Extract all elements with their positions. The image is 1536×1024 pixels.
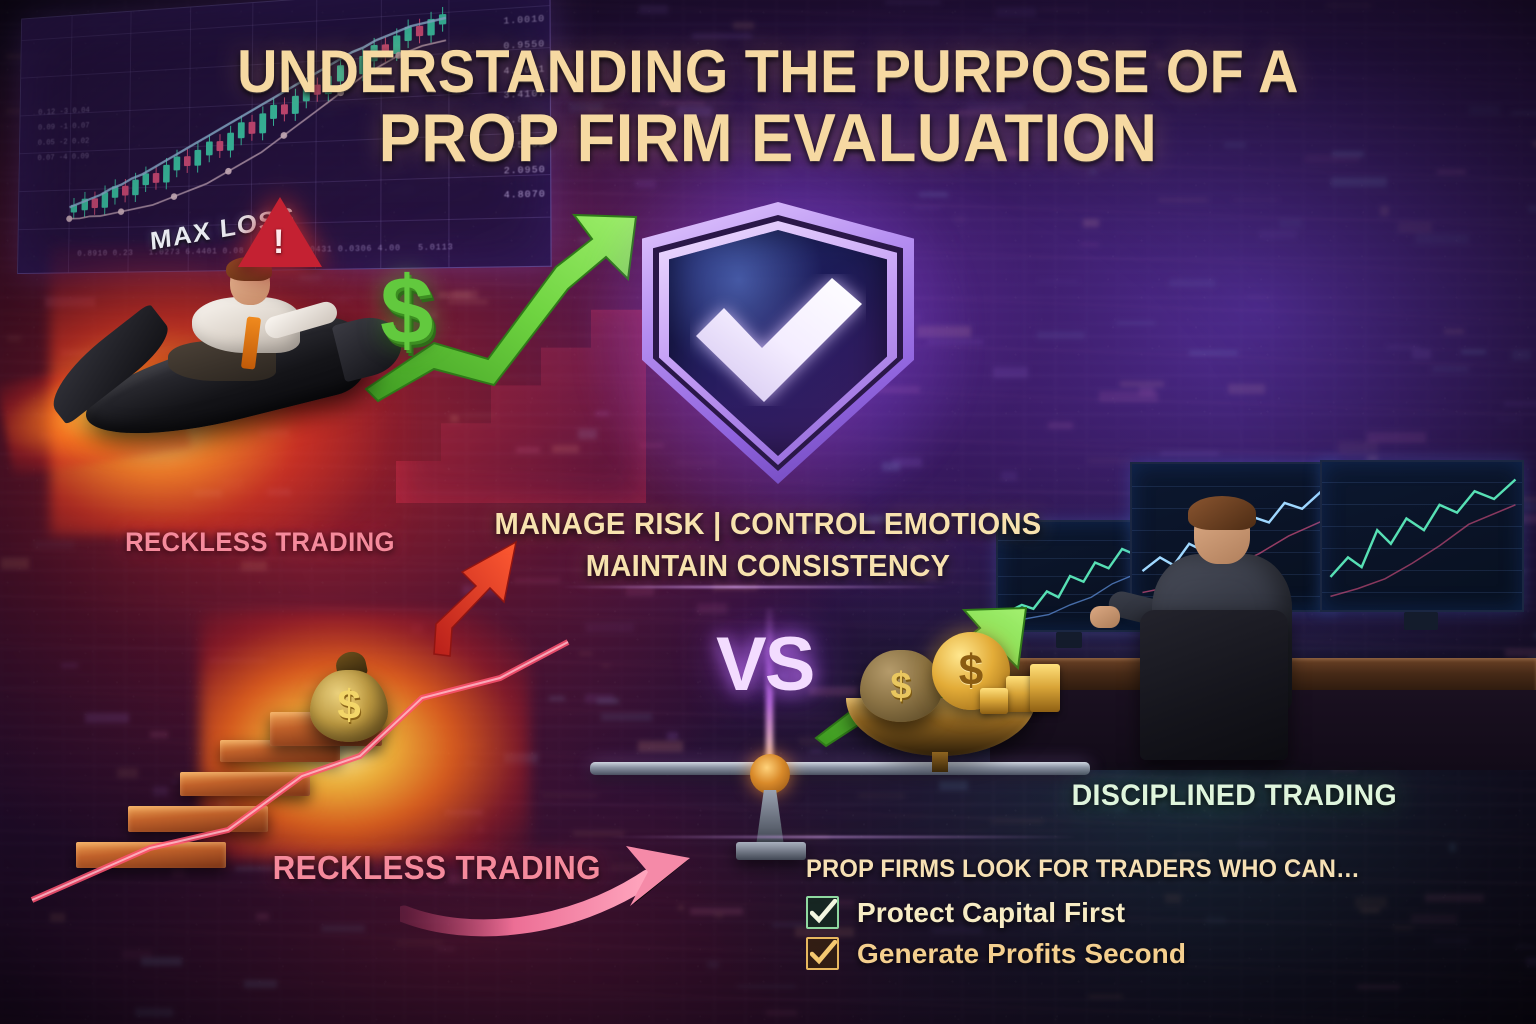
background-block: [1038, 280, 1078, 282]
background-block: [1228, 384, 1265, 394]
monitor-right-stand: [1404, 612, 1438, 630]
background-block: [1158, 198, 1208, 201]
background-block: [993, 367, 1029, 378]
background-block: [1326, 3, 1372, 8]
background-block: [1425, 894, 1485, 902]
background-block: [1, 558, 29, 569]
background-block: [1387, 345, 1419, 349]
coin-stack: [980, 688, 1008, 714]
infographic-canvas: MAX LOSS ! $ $: [0, 0, 1536, 1024]
checklist-item-label: Generate Profits Second: [857, 938, 1186, 970]
scale-base: [736, 842, 806, 860]
background-block: [1398, 222, 1431, 233]
reckless-trader-figure: [178, 261, 328, 381]
background-block: [141, 957, 182, 966]
background-block: [1088, 995, 1122, 999]
background-block: [1239, 841, 1266, 847]
warning-exclamation-glyph: !: [273, 225, 284, 259]
scale-pivot: [750, 754, 790, 794]
background-block: [1449, 843, 1456, 852]
title-line-2: PROP FIRM EVALUATION: [54, 105, 1482, 172]
background-block: [772, 924, 805, 926]
check-mark-icon: [690, 274, 866, 406]
background-block: [1526, 957, 1536, 967]
background-block: [244, 980, 277, 989]
background-block: [982, 29, 1026, 32]
versus-label: VS: [716, 621, 813, 708]
background-block: [1516, 945, 1535, 949]
background-block: [1259, 230, 1297, 239]
background-block: [733, 22, 754, 29]
page-title: UNDERSTANDING THE PURPOSE OF A PROP FIRM…: [0, 42, 1536, 173]
background-block: [1279, 219, 1302, 228]
checklist-item[interactable]: Protect Capital First: [806, 896, 1389, 929]
background-block: [1331, 177, 1387, 187]
checkbox-checked-gold[interactable]: [806, 937, 839, 970]
background-block: [766, 1010, 797, 1016]
background-block: [697, 603, 728, 613]
background-block: [1083, 219, 1099, 227]
shield-check-illustration: [628, 196, 928, 496]
background-block: [7, 335, 21, 342]
background-block: [1099, 391, 1158, 402]
background-block: [1233, 199, 1279, 201]
checklist-heading: PROP FIRMS LOOK FOR TRADERS WHO CAN…: [806, 855, 1360, 884]
background-block: [1432, 366, 1469, 373]
label-reckless-trading-bottom: RECKLESS TRADING: [273, 849, 601, 887]
background-block: [707, 961, 720, 968]
balance-scale-illustration: $ $: [560, 614, 1120, 874]
background-block: [1444, 329, 1465, 334]
background-block: [1433, 938, 1469, 943]
background-block: [737, 985, 796, 989]
checkbox-checked-green[interactable]: [806, 896, 839, 929]
center-message-line-1: MANAGE RISK | CONTROL EMOTIONS: [494, 506, 1041, 541]
check-mark-icon: [810, 940, 837, 968]
money-bag-dollar-glyph: $: [890, 666, 911, 709]
background-block: [1116, 321, 1155, 326]
background-block: [1393, 925, 1413, 931]
scale-pan-stem: [932, 752, 948, 772]
money-bag-icon: $: [860, 650, 942, 722]
background-block: [1528, 205, 1536, 214]
check-mark-icon: [810, 899, 837, 927]
center-message: MANAGE RISK | CONTROL EMOTIONS MAINTAIN …: [46, 503, 1490, 587]
label-disciplined-trading: DISCIPLINED TRADING: [1072, 779, 1397, 813]
background-block: [1189, 351, 1238, 355]
background-block: [1120, 381, 1165, 387]
background-block: [996, 7, 1036, 17]
background-block: [1048, 422, 1074, 429]
checklist-item[interactable]: Generate Profits Second: [806, 937, 1389, 970]
background-block: [1357, 985, 1399, 989]
background-block: [1461, 350, 1487, 354]
background-block: [885, 1, 941, 4]
green-dollar-sign-icon: $: [380, 263, 433, 359]
background-block: [1380, 206, 1389, 217]
background-block: [1080, 243, 1098, 246]
background-block: [1504, 402, 1536, 406]
coin-stack: [1030, 664, 1060, 712]
background-block: [1412, 349, 1431, 359]
checklist-item-label: Protect Capital First: [857, 897, 1125, 929]
background-block: [135, 1008, 173, 1017]
background-block: [1512, 350, 1531, 361]
background-block: [1498, 418, 1519, 421]
background-block: [1169, 279, 1215, 286]
center-message-line-2: MAINTAIN CONSISTENCY: [46, 545, 1490, 587]
background-block: [1247, 295, 1270, 297]
background-block: [1411, 914, 1457, 925]
scale-beam: [590, 762, 1090, 775]
title-line-1: UNDERSTANDING THE PURPOSE OF A: [54, 42, 1482, 101]
background-block: [1039, 8, 1088, 11]
office-chair: [1140, 610, 1288, 760]
checklist-panel: PROP FIRMS LOOK FOR TRADERS WHO CAN… Pro…: [806, 855, 1389, 978]
background-block: [639, 5, 668, 14]
reckless-rocket-illustration: MAX LOSS ! $: [60, 185, 620, 515]
divider-glow-line: [608, 836, 1078, 838]
background-block: [1415, 234, 1469, 244]
background-block: [1037, 331, 1085, 339]
background-block: [437, 946, 455, 952]
